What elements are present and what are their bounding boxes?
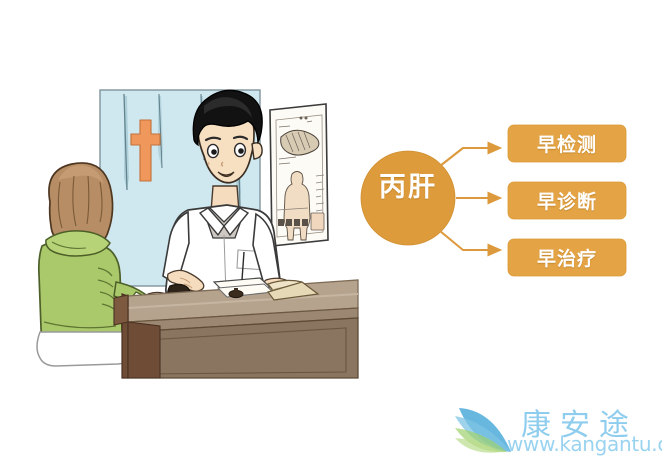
watermark-url: www.kangantu.com bbox=[507, 432, 662, 456]
connector-arrow-top bbox=[440, 148, 500, 166]
page-canvas: 丙肝 早检测 早诊断 早治疗 康安途 www.kangantu.com bbox=[0, 0, 662, 466]
connector-arrow-bottom bbox=[440, 231, 500, 250]
watermark: 康安途 www.kangantu.com bbox=[455, 398, 660, 460]
branch-box-1 bbox=[508, 182, 626, 219]
doctor-patient-illustration bbox=[28, 82, 368, 382]
hepatitis-c-flow-diagram: 丙肝 早检测 早诊断 早治疗 bbox=[340, 108, 650, 288]
branch-box-0 bbox=[508, 125, 626, 162]
branch-box-2 bbox=[508, 239, 626, 276]
